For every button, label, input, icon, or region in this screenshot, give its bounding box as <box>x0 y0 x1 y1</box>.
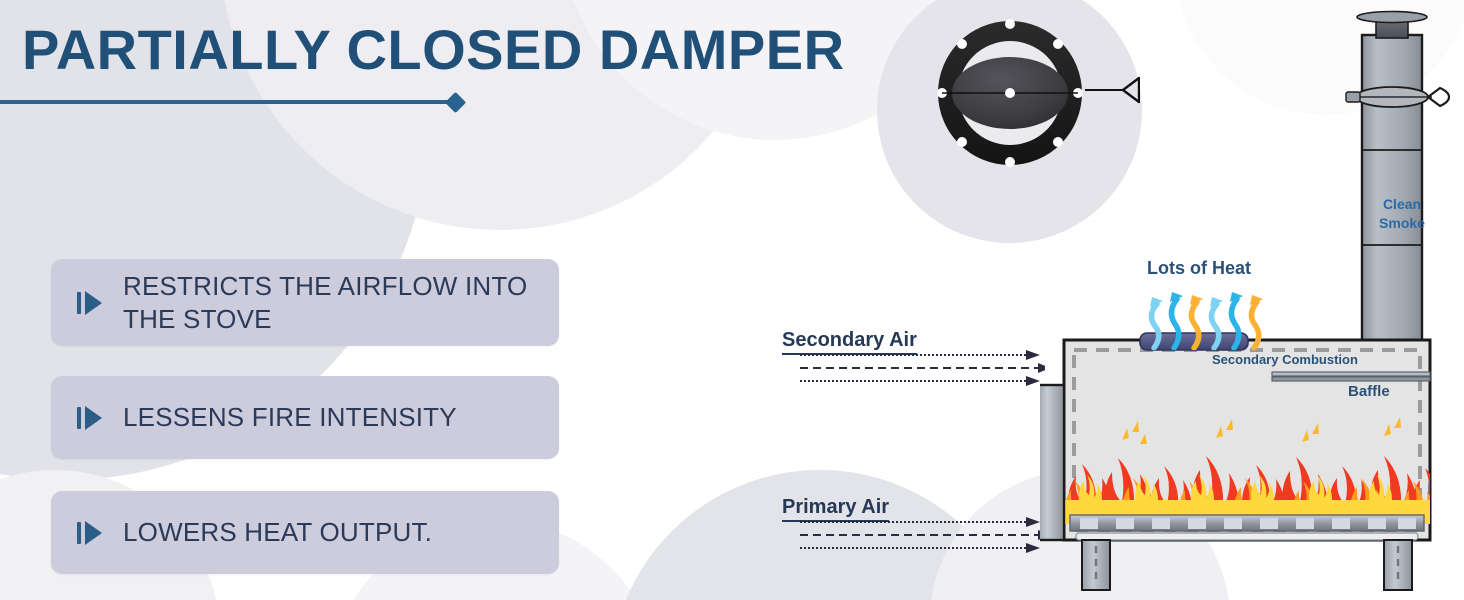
infographic-canvas: PARTIALLY CLOSED DAMPER RESTRICTS THE AI… <box>0 0 1464 600</box>
title-diamond-icon <box>445 92 466 113</box>
heat-rising-arrows <box>1148 280 1268 350</box>
title-rule-line <box>0 100 452 104</box>
bullet-item-label: LOWERS HEAT OUTPUT. <box>123 516 446 548</box>
page-title: PARTIALLY CLOSED DAMPER <box>22 22 845 78</box>
primary-air-arrows <box>800 517 1045 553</box>
play-triangle-icon <box>77 520 105 546</box>
play-triangle-icon <box>77 290 105 316</box>
title-underline <box>0 96 472 108</box>
bullet-item-lessens-fire-intensity[interactable]: LESSENS FIRE INTENSITY <box>51 376 559 459</box>
secondary-air-arrows <box>800 350 1045 386</box>
bullet-item-label: RESTRICTS THE AIRFLOW INTO THE STOVE <box>123 270 559 334</box>
play-triangle-icon <box>77 405 105 431</box>
bullet-item-lowers-heat-output[interactable]: LOWERS HEAT OUTPUT. <box>51 491 559 574</box>
bullet-item-label: LESSENS FIRE INTENSITY <box>123 401 471 433</box>
bullet-item-restricts-airflow[interactable]: RESTRICTS THE AIRFLOW INTO THE STOVE <box>51 259 559 346</box>
